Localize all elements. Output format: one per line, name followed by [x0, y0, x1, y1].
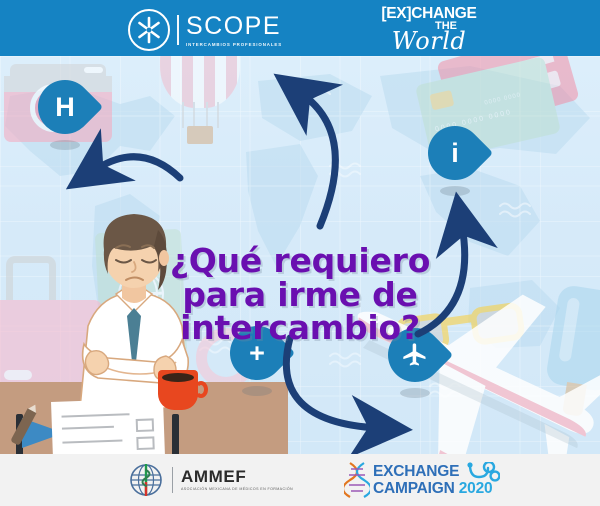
scope-wordmark: SCOPE INTERCAMBIOS PROFESIONALES: [186, 14, 282, 47]
exchange-campaign-logo: EXCHANGE CAMPAIGN 2020: [344, 461, 492, 499]
ammef-name: AMMEF: [181, 468, 293, 485]
cup-body: [158, 370, 198, 410]
hot-air-balloon-icon: [160, 56, 240, 154]
pin-information-label: i: [428, 126, 482, 180]
balloon-ropes: [180, 102, 220, 128]
camera-flash: [84, 67, 103, 73]
checkbox-item: [136, 418, 154, 432]
ammef-wordmark: AMMEF ASOCIACIÓN MEXICANA DE MÉDICOS EN …: [181, 468, 293, 492]
asterisk-icon-svg: [130, 11, 168, 49]
scope-name: SCOPE: [186, 14, 282, 39]
scope-subtitle: INTERCAMBIOS PROFESIONALES: [186, 42, 282, 47]
cup-handle: [194, 381, 208, 398]
pin-hospital[interactable]: H: [38, 80, 92, 152]
campaign-word: CAMPAIGN: [373, 480, 455, 497]
scene: PASSPORT 0000 0000 0000 0000 0000: [0, 56, 600, 454]
ammef-subtitle: ASOCIACIÓN MEXICANA DE MÉDICOS EN FORMAC…: [181, 487, 293, 492]
pin-shadow: [242, 386, 272, 396]
card-chip: [429, 90, 454, 111]
footer-bar: AMMEF ASOCIACIÓN MEXICANA DE MÉDICOS EN …: [0, 454, 600, 506]
ammef-logo: AMMEF ASOCIACIÓN MEXICANA DE MÉDICOS EN …: [128, 462, 293, 498]
logo-divider: [172, 467, 173, 493]
globe-caduceus-icon: [128, 462, 164, 498]
paper-sheet: [51, 398, 165, 454]
title-line-3: intercambio?: [0, 311, 600, 345]
pin-shadow: [400, 388, 430, 398]
pin-hospital-label: H: [38, 80, 92, 134]
balloon-basket: [187, 126, 213, 144]
title-line-1: ¿Qué requiero: [0, 244, 600, 278]
page-title: ¿Qué requiero para irme de intercambio?: [0, 244, 600, 345]
header-bar: SCOPE INTERCAMBIOS PROFESIONALES [EX]CHA…: [0, 0, 600, 56]
balloon-envelope: [160, 56, 240, 108]
poster-root: SCOPE INTERCAMBIOS PROFESIONALES [EX]CHA…: [0, 0, 600, 506]
etw-world: World: [374, 29, 484, 53]
pin-shadow: [50, 140, 80, 150]
dna-helix-icon: [344, 461, 370, 499]
pin-information[interactable]: i: [428, 126, 482, 198]
title-line-2: para irme de: [0, 278, 600, 312]
exchange-the-world-logo: [EX]CHANGE THE World: [374, 6, 484, 52]
coffee-cup: [158, 370, 204, 412]
checkbox-item: [136, 436, 154, 450]
stethoscope-icon: [466, 462, 500, 484]
flag-pole: [172, 414, 179, 454]
logo-divider: [177, 15, 179, 45]
etw-ex: [EX]: [381, 6, 411, 22]
pin-shadow: [440, 186, 470, 196]
suitcase-tag: [4, 370, 32, 380]
asterisk-icon: [128, 9, 170, 51]
etw-line1: [EX]CHANGE: [374, 6, 484, 22]
scope-logo: SCOPE INTERCAMBIOS PROFESIONALES: [128, 9, 282, 51]
coffee-liquid: [162, 373, 194, 382]
card-number-secondary: 0000 0000: [484, 92, 522, 106]
